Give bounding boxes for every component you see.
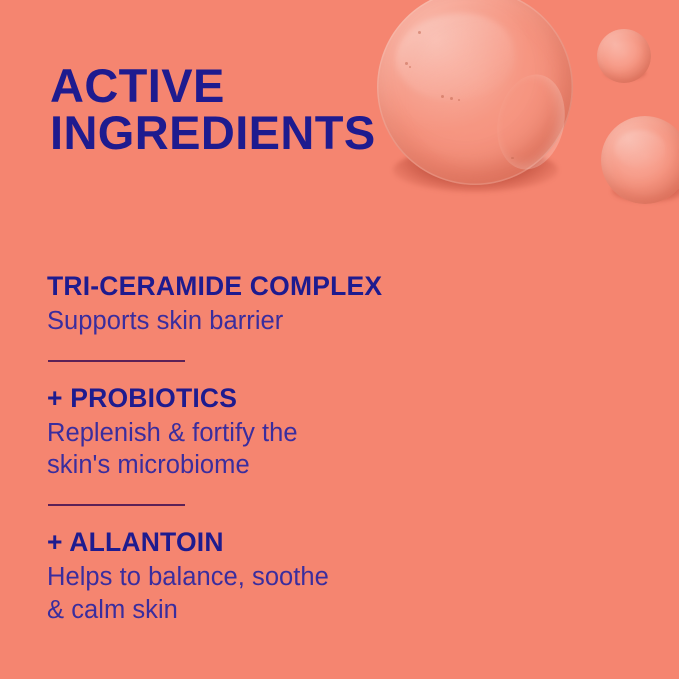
bubble-speck	[405, 62, 408, 65]
ingredient-list: TRI-CERAMIDE COMPLEX Supports skin barri…	[47, 272, 517, 626]
large-gel-droplet-shadow	[393, 148, 558, 192]
ingredient-name: + PROBIOTICS	[47, 384, 517, 412]
large-gel-droplet-highlight	[391, 6, 520, 108]
large-gel-droplet-edge-highlight	[489, 68, 574, 176]
large-gel-droplet-rim	[377, 0, 573, 185]
large-gel-droplet	[377, 0, 573, 185]
bubble-speck	[418, 31, 421, 34]
active-ingredients-poster: ACTIVE INGREDIENTS TRI-CERAMIDE COMPLEX …	[0, 0, 679, 679]
bubble-speck	[409, 66, 411, 68]
medium-gel-droplet-shadow	[612, 180, 679, 202]
ingredient-item-allantoin: + ALLANTOIN Helps to balance, soothe & c…	[47, 528, 517, 626]
bubble-speck	[441, 95, 444, 98]
bubble-speck	[450, 97, 453, 100]
small-gel-droplet-shadow	[604, 66, 646, 80]
medium-gel-droplet	[601, 116, 679, 204]
page-title: ACTIVE INGREDIENTS	[50, 62, 376, 156]
ingredient-description: Supports skin barrier	[47, 305, 517, 338]
ingredient-name: TRI-CERAMIDE COMPLEX	[47, 272, 517, 300]
bubble-speck	[458, 99, 460, 101]
small-gel-droplet	[597, 29, 651, 83]
ingredient-item-tri-ceramide-complex: TRI-CERAMIDE COMPLEX Supports skin barri…	[47, 272, 517, 338]
ingredient-divider	[48, 360, 185, 362]
ingredient-description: Replenish & fortify the skin's microbiom…	[47, 417, 517, 482]
ingredient-description: Helps to balance, soothe & calm skin	[47, 561, 517, 626]
ingredient-name: + ALLANTOIN	[47, 528, 517, 556]
ingredient-item-probiotics: + PROBIOTICS Replenish & fortify the ski…	[47, 384, 517, 482]
medium-gel-droplet-highlight	[615, 130, 665, 168]
ingredient-divider	[48, 504, 185, 506]
bubble-speck	[511, 157, 514, 159]
